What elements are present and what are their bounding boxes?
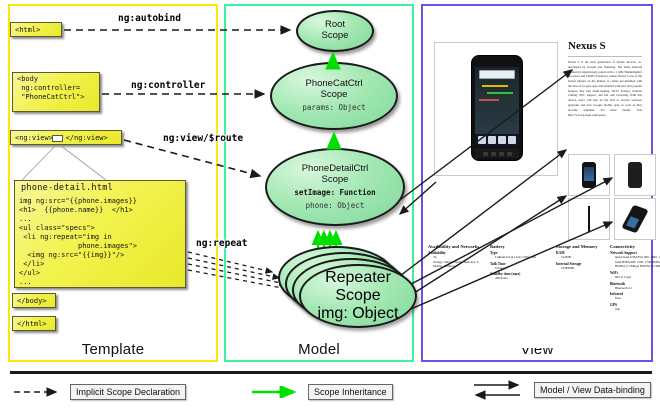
label-ng-view-route: ng:view/$route: [163, 133, 243, 144]
phone-hardware-buttons: [475, 149, 519, 158]
legend-label-data-binding: Model / View Data-binding: [534, 382, 651, 398]
label-ng-autobind: ng:autobind: [118, 13, 181, 24]
scope-root-name-line2: Scope: [322, 31, 349, 42]
label-ng-controller: ng:controller: [131, 80, 205, 91]
ngview-placeholder-rect: [52, 135, 63, 142]
spec-heading-battery: Battery: [490, 244, 556, 249]
phone-screen: [475, 67, 519, 143]
phone-front-thumb-icon: [582, 162, 596, 188]
code-box-ngview-tag: <ng:view> </ng:view>: [10, 130, 122, 145]
phone-wallpaper-line-red: [479, 99, 499, 101]
scope-repeater-name-line1: Repeater: [325, 269, 391, 287]
phone-hero-image-frame: [434, 42, 558, 176]
view-spec-battery: Battery Type Lithium Ion (Li-Ion) 1500 m…: [490, 244, 556, 281]
spec-heading-storage: Storage and Memory: [556, 244, 610, 249]
legend-label-implicit-declaration: Implicit Scope Declaration: [70, 384, 186, 400]
scope-repeater-name-line2: Scope: [335, 287, 380, 305]
spec-heading-availability: Availability and Networks: [428, 244, 488, 249]
phone-angled-thumb-icon: [621, 205, 648, 234]
view-title-divider: [568, 56, 642, 57]
phone-wallpaper-line-yellow: [482, 85, 508, 87]
spec-value-bluetooth: Bluetooth 2.1: [615, 286, 660, 291]
legend-double-arrow-icon: [472, 379, 528, 401]
phone-wallpaper-line-green: [487, 92, 513, 94]
legend-dashed-arrow-icon: [12, 386, 64, 398]
column-label-template: Template: [10, 341, 216, 358]
legend-green-arrow-icon: [250, 386, 302, 398]
legend-item-data-binding: Model / View Data-binding: [472, 379, 651, 401]
scope-phonecatctrl: PhoneCatCtrl Scope params: Object: [270, 62, 398, 130]
code-box-body-tag: <body ng:controller= "PhoneCatCtrl">: [12, 72, 100, 112]
view-spec-availability: Availability and Networks Availability 3…: [428, 244, 488, 269]
legend-item-scope-inheritance: Scope Inheritance: [250, 384, 393, 400]
phone-back-thumb-icon: [628, 162, 642, 188]
spec-value-gps: true: [615, 307, 660, 312]
legend-label-scope-inheritance: Scope Inheritance: [308, 384, 393, 400]
code-box-phone-detail: phone-detail.htmlimg ng:src="{{phone.ima…: [14, 180, 186, 288]
view-thumbnail-1[interactable]: [568, 154, 610, 196]
phone-detail-filename: phone-detail.html: [21, 183, 181, 194]
scope-phonecatctrl-name-line2: Scope: [321, 90, 348, 101]
ngview-open-tag: <ng:view>: [15, 134, 53, 142]
scope-phonecatctrl-property: params: Object: [302, 103, 365, 112]
legend-item-implicit-declaration: Implicit Scope Declaration: [12, 384, 186, 400]
view-thumbnail-4[interactable]: [614, 198, 656, 240]
legend-divider: [10, 371, 652, 374]
setimage-text: setImage: Function: [294, 188, 375, 197]
spec-value-internal-storage: 16384MB: [561, 266, 610, 271]
view-spec-connectivity: Connectivity Network Support Quad-band G…: [610, 244, 660, 311]
scope-repeater: Repeater Scope img: Object: [299, 264, 417, 328]
view-rendered-page: Nexus S Nexus S is the next generation o…: [428, 12, 646, 348]
spec-value-wifi: 802.11 b/g/n: [615, 275, 660, 280]
spec-value-battery-type: Lithium Ion (Li-Ion) 1500 mAh: [495, 255, 556, 260]
diagram-canvas: Template Model View <html> <body ng:cont…: [0, 0, 660, 420]
spec-value-battery-talktime: 6 hours: [495, 266, 556, 271]
view-phone-description: Nexus S is the next generation of Nexus …: [568, 60, 642, 117]
spec-heading-connectivity: Connectivity: [610, 244, 660, 249]
scope-phonedetailctrl-property-phone: phone: Object: [306, 201, 365, 210]
spec-value-infrared: false: [615, 296, 660, 301]
code-box-body-close: </body>: [12, 293, 56, 308]
spec-value-ram: 512MB: [561, 255, 610, 260]
label-ng-repeat: ng:repeat: [196, 238, 247, 249]
phone-detail-code: img ng:src="{{phone.images}} <h1> {{phon…: [19, 197, 181, 288]
nexus-s-phone-image: [471, 55, 523, 161]
view-thumbnail-3[interactable]: [568, 198, 610, 240]
code-box-html-close: </html>: [12, 316, 56, 331]
scope-phonedetailctrl: PhoneDetailCtrl Scope setImage: Function…: [265, 148, 405, 226]
scope-root: Root Scope: [296, 10, 374, 52]
view-thumbnail-2[interactable]: [614, 154, 656, 196]
phone-side-thumb-icon: [588, 206, 590, 232]
phone-search-bar: [479, 70, 515, 79]
code-box-html-open: <html>: [10, 22, 62, 37]
scope-phonedetailctrl-property-setimage: setImage: Function: [294, 188, 375, 197]
phone-app-dock: [475, 134, 519, 146]
view-phone-title: Nexus S: [568, 40, 606, 52]
spec-value-network-support: Quad-band GSM 850, 900, 1800, 1900 Tri- …: [615, 255, 660, 269]
scope-phonedetailctrl-name-line2: Scope: [322, 175, 349, 186]
spec-value-availability-2: Orange, Singtel, Sprint, Reliance, T-Mob…: [433, 260, 488, 269]
spec-value-battery-standby: 428 hours: [495, 276, 556, 281]
column-label-model: Model: [226, 341, 412, 358]
ngview-close-tag: </ng:view>: [66, 134, 108, 142]
view-spec-storage: Storage and Memory RAM 512MB Internal St…: [556, 244, 610, 270]
scope-repeater-property: img: Object: [318, 305, 399, 323]
